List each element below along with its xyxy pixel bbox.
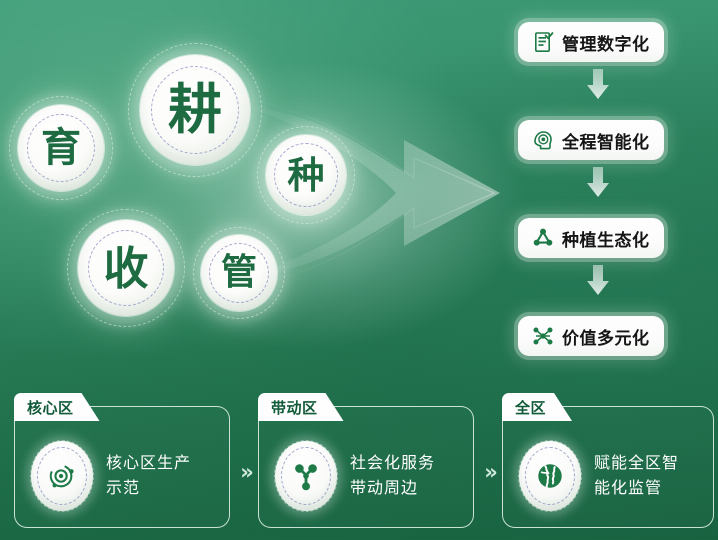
infographic-canvas: 育 耕 种 收 管 管理数字化 全程智能化 xyxy=(0,0,718,540)
globe-icon xyxy=(535,461,565,491)
zone-tab: 核心区 xyxy=(14,393,100,421)
char-glyph: 种 xyxy=(288,157,325,194)
network-nodes-icon xyxy=(531,324,555,348)
zone-icon-container xyxy=(519,441,581,511)
zone-tab: 全区 xyxy=(502,393,572,421)
zone-icon-container xyxy=(275,441,337,511)
flow-step-label: 管理数字化 xyxy=(562,30,650,55)
zone-description: 赋能全区智 能化监管 xyxy=(594,451,679,501)
char-circle-3: 种 xyxy=(266,135,346,215)
flow-down-arrow xyxy=(583,166,613,198)
char-glyph: 育 xyxy=(41,128,81,168)
zone-tab-label: 全区 xyxy=(515,397,546,418)
char-glyph: 收 xyxy=(103,246,148,291)
zone-description: 核心区生产 示范 xyxy=(106,451,191,501)
zone-tab-label: 带动区 xyxy=(271,397,318,418)
char-glyph: 管 xyxy=(221,255,257,291)
flow-step-full-process-intelligence[interactable]: 全程智能化 xyxy=(518,120,664,160)
flow-step-management-digitalization[interactable]: 管理数字化 xyxy=(518,22,664,62)
zone-card-driving[interactable]: 带动区 社会化服务 带动周边 xyxy=(258,406,474,528)
network-molecule-icon xyxy=(291,461,321,491)
zone-separator-chevron: » xyxy=(236,461,258,483)
zone-separator-chevron: » xyxy=(480,461,502,483)
flow-step-label: 价值多元化 xyxy=(562,324,650,349)
flow-step-planting-ecology[interactable]: 种植生态化 xyxy=(518,218,664,258)
flow-down-arrow xyxy=(583,264,613,296)
flow-step-label: 种植生态化 xyxy=(562,226,650,251)
zone-card-core[interactable]: 核心区 核心区生产 示范 xyxy=(14,406,230,528)
zone-tab: 带动区 xyxy=(258,393,344,421)
char-circle-1: 育 xyxy=(18,105,104,191)
ai-head-icon xyxy=(531,128,555,152)
flow-down-arrow xyxy=(583,68,613,100)
char-circle-5: 管 xyxy=(201,235,277,311)
char-circle-2: 耕 xyxy=(140,55,250,165)
zone-card-whole-district[interactable]: 全区 赋能全区智 能化监管 xyxy=(502,406,714,528)
char-circle-4: 收 xyxy=(78,220,174,316)
orbit-target-icon xyxy=(47,461,77,491)
clipboard-check-icon xyxy=(531,30,555,54)
zone-icon-container xyxy=(31,441,93,511)
char-glyph: 耕 xyxy=(168,83,222,137)
flow-step-label: 全程智能化 xyxy=(562,128,650,153)
zone-description: 社会化服务 带动周边 xyxy=(350,451,435,501)
zone-tab-label: 核心区 xyxy=(27,397,74,418)
flow-step-value-diversification[interactable]: 价值多元化 xyxy=(518,316,664,356)
eco-recycle-icon xyxy=(531,226,555,250)
